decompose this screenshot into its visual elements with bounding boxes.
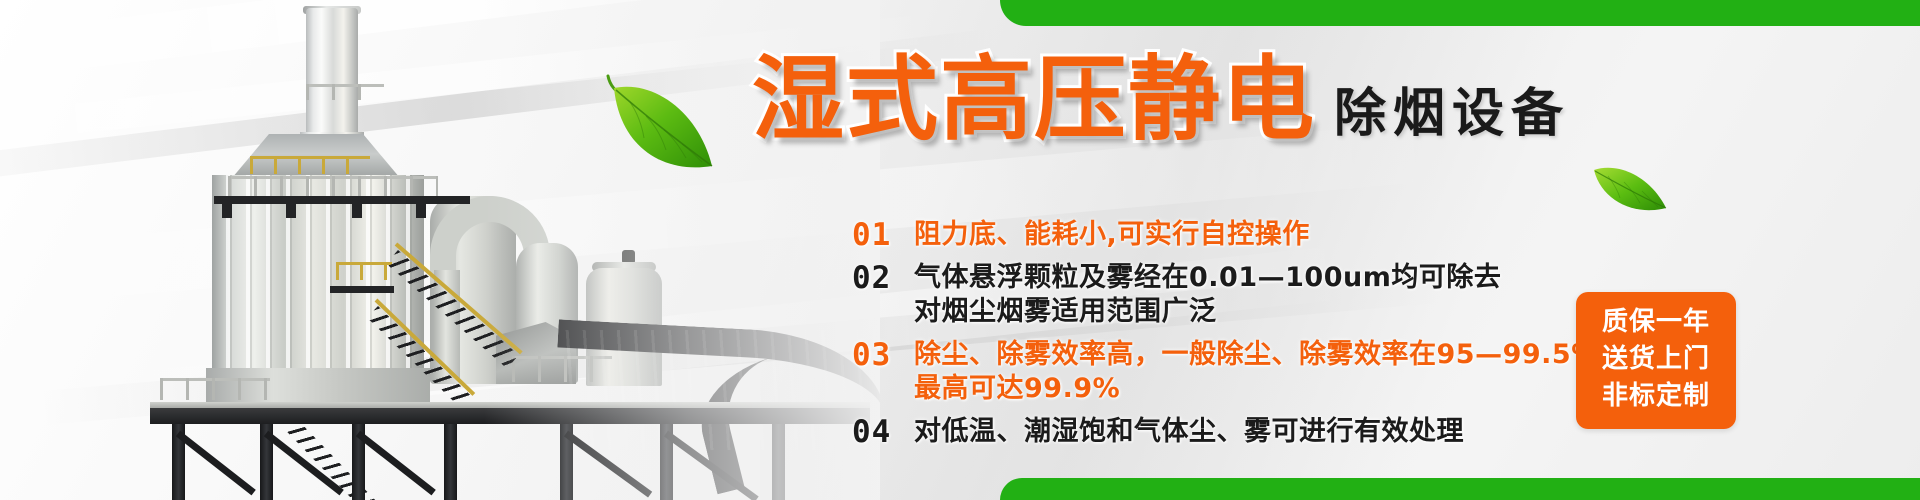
feature-line: 对烟尘烟雾适用范围广泛: [914, 295, 1501, 330]
stack-railing-posts: [306, 84, 384, 100]
feature-text-02: 气体悬浮颗粒及雾经在0.01—100um均可除去 对烟尘烟雾适用范围广泛: [914, 261, 1501, 330]
platform-bracket-d: [416, 204, 426, 218]
feature-line: 最高可达99.9%: [914, 372, 1599, 407]
badge-line-custom: 非标定制: [1586, 378, 1726, 415]
mid-platform-beam: [330, 286, 394, 293]
feature-line: 气体悬浮颗粒及雾经在0.01—100um均可除去: [914, 261, 1501, 296]
exhaust-stack: [306, 8, 358, 138]
service-guarantee-badge: 质保一年 送货上门 非标定制: [1576, 292, 1736, 429]
platform-bracket-a: [222, 204, 232, 218]
headline-block: 湿式高压静电 除烟设备: [752, 54, 1570, 146]
badge-line-warranty: 质保一年: [1586, 304, 1726, 341]
support-brace-4: [564, 431, 652, 498]
feature-number-02: 02: [852, 261, 914, 296]
industrial-scrubber-photo: [0, 0, 880, 500]
platform-railing-posts-top: [228, 176, 438, 196]
feature-text-01: 阻力底、能耗小,可实行自控操作: [914, 218, 1310, 253]
mid-railing-yellow-posts: [336, 262, 392, 280]
support-deck: [150, 408, 870, 424]
feature-line: 对低温、潮湿饱和气体尘、雾可进行有效处理: [914, 415, 1464, 450]
feature-number-01: 01: [852, 218, 914, 253]
page-title: 湿式高压静电: [752, 54, 1316, 146]
platform-railing-yellow-posts: [250, 156, 370, 174]
platform-bracket-b: [286, 204, 296, 218]
feature-item-01: 01 阻力底、能耗小,可实行自控操作: [852, 218, 1852, 253]
green-bar-bottom: [1000, 478, 1920, 500]
platform-beam-upper: [214, 196, 470, 204]
support-leg-4: [444, 424, 457, 500]
feature-text-03: 除尘、除雾效率高，一般除尘、除雾效率在95—99.5% 最高可达99.9%: [914, 338, 1599, 407]
support-brace-3: [356, 431, 436, 496]
page-subtitle: 除烟设备: [1334, 88, 1570, 146]
walkway-railing-posts: [160, 378, 270, 400]
feature-text-04: 对低温、潮湿饱和气体尘、雾可进行有效处理: [914, 415, 1464, 450]
feature-number-03: 03: [852, 338, 914, 373]
feature-line: 除尘、除雾效率高，一般除尘、除雾效率在95—99.5%: [914, 338, 1599, 373]
support-leg-7: [772, 424, 785, 500]
feature-number-04: 04: [852, 415, 914, 450]
platform-bracket-c: [352, 204, 362, 218]
feature-line: 阻力底、能耗小,可实行自控操作: [914, 218, 1310, 253]
promo-banner: 湿式高压静电 除烟设备 01 阻力底、能耗小,可实行自控操作 02 气体悬浮颗粒…: [0, 0, 1920, 500]
green-bar-top: [1000, 0, 1920, 26]
support-brace-1: [176, 431, 256, 496]
badge-line-delivery: 送货上门: [1586, 341, 1726, 378]
